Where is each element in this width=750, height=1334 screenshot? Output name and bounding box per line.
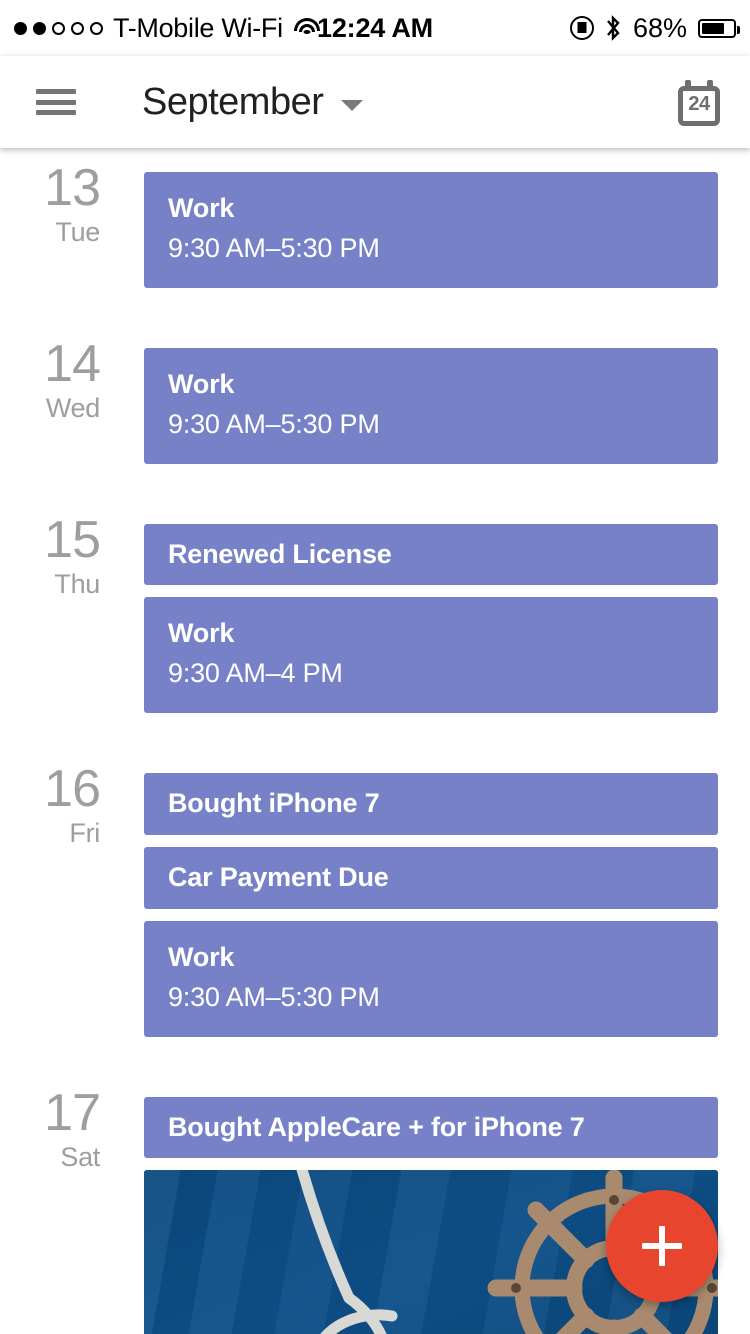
event-time: 9:30 AM–5:30 PM [168,407,694,442]
agenda-day: 16 Fri Bought iPhone 7 Car Payment Due W… [0,749,750,1072]
battery-icon [698,19,736,38]
page-title: September [142,83,323,121]
day-weekday: Tue [0,214,100,250]
app-bar: September 24 [0,56,750,148]
day-number: 17 [0,1087,100,1139]
day-events: Work 9:30 AM–5:30 PM [144,324,750,500]
rotation-lock-icon [570,16,594,40]
add-event-fab[interactable] [606,1190,718,1302]
status-bar-right: 68% [570,0,736,56]
agenda-day: 15 Thu Renewed License Work 9:30 AM–4 PM [0,500,750,750]
event-chip[interactable]: Work 9:30 AM–5:30 PM [144,172,718,288]
event-time: 9:30 AM–5:30 PM [168,980,694,1015]
event-time: 9:30 AM–5:30 PM [168,231,694,266]
agenda-day: 13 Tue Work 9:30 AM–5:30 PM [0,148,750,324]
day-events: Work 9:30 AM–5:30 PM [144,148,750,324]
today-date-number: 24 [676,93,722,116]
chevron-down-icon [341,100,363,111]
event-chip[interactable]: Car Payment Due [144,847,718,909]
event-title: Work [168,941,694,975]
hamburger-menu-icon[interactable] [36,86,76,118]
day-date-column: 17 Sat [0,1073,144,1334]
event-chip[interactable]: Work 9:30 AM–5:30 PM [144,348,718,464]
event-chip[interactable]: Bought iPhone 7 [144,773,718,835]
status-bar: T-Mobile Wi-Fi 12:24 AM 68% [0,0,750,56]
day-number: 15 [0,514,100,566]
agenda-list[interactable]: 13 Tue Work 9:30 AM–5:30 PM 14 Wed Work … [0,148,750,1334]
day-date-column: 13 Tue [0,148,144,324]
agenda-day: 14 Wed Work 9:30 AM–5:30 PM [0,324,750,500]
event-title: Work [168,617,694,651]
day-date-column: 15 Thu [0,500,144,750]
day-events: Renewed License Work 9:30 AM–4 PM [144,500,750,750]
event-chip[interactable]: Bought AppleCare + for iPhone 7 [144,1097,718,1159]
battery-percent-label: 68% [633,13,687,44]
event-time: 9:30 AM–4 PM [168,656,694,691]
bluetooth-icon [605,15,622,41]
day-number: 13 [0,162,100,214]
day-weekday: Sat [0,1139,100,1175]
event-title: Work [168,192,694,226]
event-title: Bought AppleCare + for iPhone 7 [168,1111,694,1145]
event-title: Bought iPhone 7 [168,787,694,821]
event-chip[interactable]: Work 9:30 AM–5:30 PM [144,921,718,1037]
clock-label: 12:24 AM [317,13,433,44]
day-weekday: Thu [0,566,100,602]
day-number: 14 [0,338,100,390]
event-chip[interactable]: Work 9:30 AM–4 PM [144,597,718,713]
calendar-icon[interactable]: 24 [676,80,722,126]
event-title: Car Payment Due [168,861,694,895]
day-date-column: 16 Fri [0,749,144,1072]
day-weekday: Wed [0,390,100,426]
day-events: Bought iPhone 7 Car Payment Due Work 9:3… [144,749,750,1072]
day-date-column: 14 Wed [0,324,144,500]
event-chip[interactable]: Renewed License [144,524,718,586]
day-number: 16 [0,763,100,815]
event-title: Renewed License [168,538,694,572]
day-weekday: Fri [0,815,100,851]
event-title: Work [168,368,694,402]
month-selector[interactable]: September [142,56,363,148]
calendar-app-screen: T-Mobile Wi-Fi 12:24 AM 68% September [0,0,750,1334]
